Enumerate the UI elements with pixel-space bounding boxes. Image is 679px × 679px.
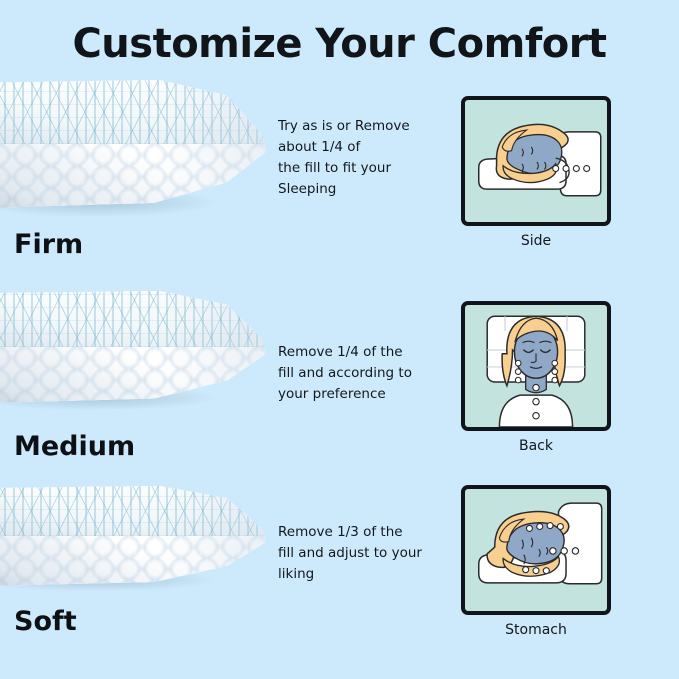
position-panel-stomach <box>461 485 611 615</box>
pillow-image-medium <box>0 285 272 435</box>
pillow-body <box>0 80 266 208</box>
pillow-image-soft <box>0 472 272 622</box>
position-block-stomach: Stomach <box>461 485 611 638</box>
instruction-text-soft: Remove 1/3 of the fill and adjust to you… <box>278 522 443 585</box>
position-block-side: Side <box>461 96 611 249</box>
pillow-lattice-band <box>0 291 266 347</box>
comfort-row-firm: Firm Try as is or Remove about 1/4 of th… <box>0 80 679 270</box>
position-caption-back: Back <box>461 438 611 454</box>
firmness-label-medium: Medium <box>14 433 135 460</box>
pillow-medium-icon <box>0 291 266 403</box>
instruction-text-medium: Remove 1/4 of the fill and according to … <box>278 342 443 405</box>
pillow-body <box>0 291 266 403</box>
sleeper-back-icon <box>465 305 607 427</box>
firmness-label-soft: Soft <box>14 608 77 635</box>
position-caption-stomach: Stomach <box>461 622 611 638</box>
pillow-lattice-band <box>0 80 266 144</box>
position-block-back: Back <box>461 301 611 454</box>
pillow-soft-icon <box>0 486 266 586</box>
infographic-page: Customize Your Comfort Firm Try as is or… <box>0 0 679 679</box>
instruction-text-firm: Try as is or Remove about 1/4 of the fil… <box>278 116 443 200</box>
sleeper-stomach-icon <box>465 489 607 611</box>
comfort-row-soft: Soft Remove 1/3 of the fill and adjust t… <box>0 472 679 662</box>
pillow-body <box>0 486 266 586</box>
pillow-lattice-band <box>0 486 266 536</box>
sleeper-side-icon <box>465 100 607 222</box>
firmness-label-firm: Firm <box>14 231 83 258</box>
position-caption-side: Side <box>461 233 611 249</box>
comfort-row-medium: Medium Remove 1/4 of the fill and accord… <box>0 285 679 470</box>
page-title: Customize Your Comfort <box>0 24 679 64</box>
position-panel-side <box>461 96 611 226</box>
pillow-firm-icon <box>0 80 266 208</box>
pillow-image-firm <box>0 80 272 230</box>
position-panel-back <box>461 301 611 431</box>
